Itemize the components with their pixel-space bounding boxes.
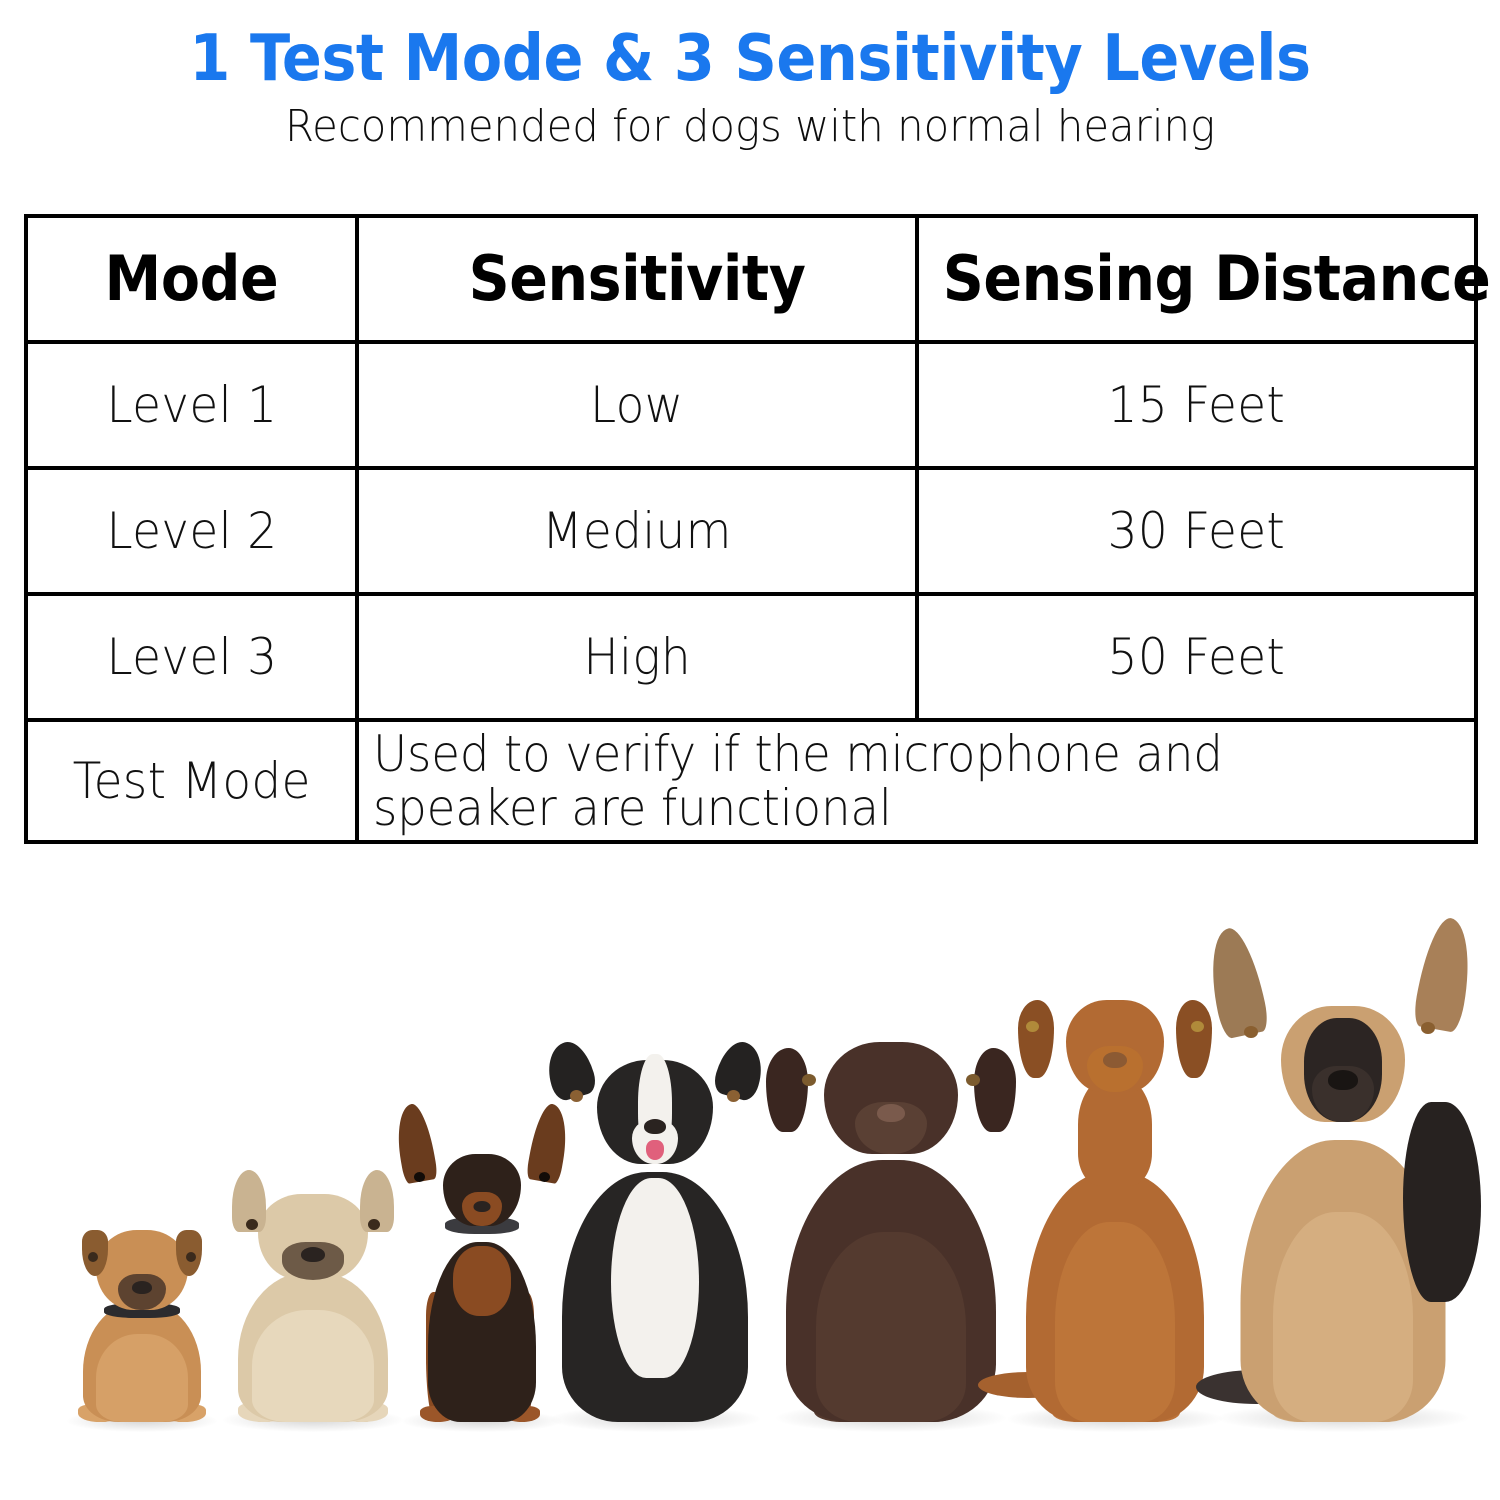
dog-eye bbox=[802, 1074, 816, 1086]
dog-ear bbox=[1018, 1000, 1054, 1078]
dog-neck bbox=[1078, 1076, 1152, 1186]
dog-german-shepherd bbox=[1210, 892, 1475, 1422]
dog-tan-marking bbox=[453, 1246, 511, 1316]
dog-eye bbox=[1421, 1022, 1435, 1034]
column-header-mode-label: Mode bbox=[105, 248, 279, 310]
cell-distance: 15 Feet bbox=[917, 342, 1476, 468]
dog-chest bbox=[816, 1232, 966, 1422]
spec-table-container: Mode Sensitivity Sensing Distance Level … bbox=[24, 214, 1474, 840]
cell-sensitivity: Medium bbox=[357, 468, 917, 594]
cell-distance-label: 15 Feet bbox=[1108, 380, 1285, 430]
dog-eye bbox=[570, 1090, 583, 1102]
column-header-sensing-distance-label: Sensing Distance bbox=[943, 248, 1491, 310]
cell-mode: Level 1 bbox=[26, 342, 357, 468]
dog-french-bulldog bbox=[218, 1162, 408, 1422]
table-row: Level 1 Low 15 Feet bbox=[26, 342, 1476, 468]
cell-sensitivity-label: Low bbox=[590, 380, 683, 430]
page-title: 1 Test Mode & 3 Sensitivity Levels bbox=[60, 0, 1440, 93]
cell-distance-label: 30 Feet bbox=[1108, 506, 1285, 556]
cell-distance: 30 Feet bbox=[917, 468, 1476, 594]
dog-eye bbox=[1191, 1021, 1204, 1032]
dog-size-comparison-photo bbox=[0, 850, 1500, 1500]
cell-mode-label: Level 2 bbox=[106, 506, 277, 556]
dog-ear bbox=[1201, 924, 1270, 1040]
dog-nose bbox=[1328, 1070, 1358, 1090]
dog-eye bbox=[966, 1074, 980, 1086]
dog-ear bbox=[1412, 915, 1479, 1034]
cell-distance: 50 Feet bbox=[917, 594, 1476, 720]
dog-eye bbox=[1244, 1026, 1258, 1038]
sensitivity-spec-table: Mode Sensitivity Sensing Distance Level … bbox=[24, 214, 1478, 844]
dog-ear bbox=[391, 1102, 438, 1185]
table-header-row: Mode Sensitivity Sensing Distance bbox=[26, 216, 1476, 342]
cell-sensitivity: Low bbox=[357, 342, 917, 468]
column-header-sensitivity-label: Sensitivity bbox=[469, 248, 806, 310]
dog-nose bbox=[301, 1247, 325, 1262]
dog-white-chest bbox=[611, 1178, 699, 1378]
dog-eye bbox=[414, 1172, 425, 1182]
dog-border-collie bbox=[540, 1002, 770, 1422]
dog-ear bbox=[711, 1037, 769, 1103]
cell-sensitivity-label: High bbox=[583, 632, 691, 682]
dog-chest bbox=[96, 1334, 188, 1422]
cell-distance-label: 50 Feet bbox=[1108, 632, 1285, 682]
cell-mode: Level 2 bbox=[26, 468, 357, 594]
page-subtitle: Recommended for dogs with normal hearing bbox=[38, 93, 1463, 151]
column-header-sensitivity: Sensitivity bbox=[357, 216, 917, 342]
dog-ear bbox=[766, 1048, 808, 1132]
cell-mode-label: Level 1 bbox=[106, 380, 277, 430]
cell-mode: Level 3 bbox=[26, 594, 357, 720]
dog-nose bbox=[644, 1119, 666, 1134]
product-infographic: 1 Test Mode & 3 Sensitivity Levels Recom… bbox=[0, 0, 1500, 1500]
dog-eye bbox=[1026, 1021, 1039, 1032]
dog-eye bbox=[88, 1252, 98, 1262]
dog-chest bbox=[252, 1310, 374, 1422]
dog-tongue bbox=[646, 1140, 664, 1160]
dog-nose bbox=[132, 1281, 152, 1294]
cell-sensitivity-label: Medium bbox=[542, 506, 732, 556]
cell-mode-label: Level 3 bbox=[106, 632, 277, 682]
table-row-test-mode: Test Mode Used to verify if the micropho… bbox=[26, 720, 1476, 842]
cell-sensitivity: High bbox=[357, 594, 917, 720]
dog-eye bbox=[246, 1219, 258, 1230]
dog-chest bbox=[1273, 1212, 1413, 1422]
dog-vizsla bbox=[1000, 942, 1230, 1422]
dog-nose bbox=[877, 1104, 905, 1122]
dog-puppy bbox=[62, 1222, 222, 1422]
dog-nose bbox=[474, 1201, 491, 1212]
dog-ear bbox=[1176, 1000, 1212, 1078]
column-header-mode: Mode bbox=[26, 216, 357, 342]
dog-eye bbox=[368, 1219, 380, 1230]
dog-chest bbox=[1055, 1222, 1175, 1422]
dog-row bbox=[0, 862, 1500, 1422]
cell-test-mode-description: Used to verify if the microphone and spe… bbox=[357, 720, 1476, 842]
cell-mode-label: Test Mode bbox=[72, 756, 310, 806]
dog-chocolate-lab bbox=[766, 992, 1016, 1422]
table-row: Level 2 Medium 30 Feet bbox=[26, 468, 1476, 594]
dog-eye bbox=[186, 1252, 196, 1262]
dog-saddle bbox=[1403, 1102, 1481, 1302]
cell-test-mode-description-label: Used to verify if the microphone and spe… bbox=[373, 727, 1393, 835]
column-header-sensing-distance: Sensing Distance bbox=[917, 216, 1476, 342]
table-row: Level 3 High 50 Feet bbox=[26, 594, 1476, 720]
dog-eye bbox=[727, 1090, 740, 1102]
cell-mode: Test Mode bbox=[26, 720, 357, 842]
header: 1 Test Mode & 3 Sensitivity Levels Recom… bbox=[0, 0, 1500, 190]
dog-nose bbox=[1103, 1052, 1127, 1068]
